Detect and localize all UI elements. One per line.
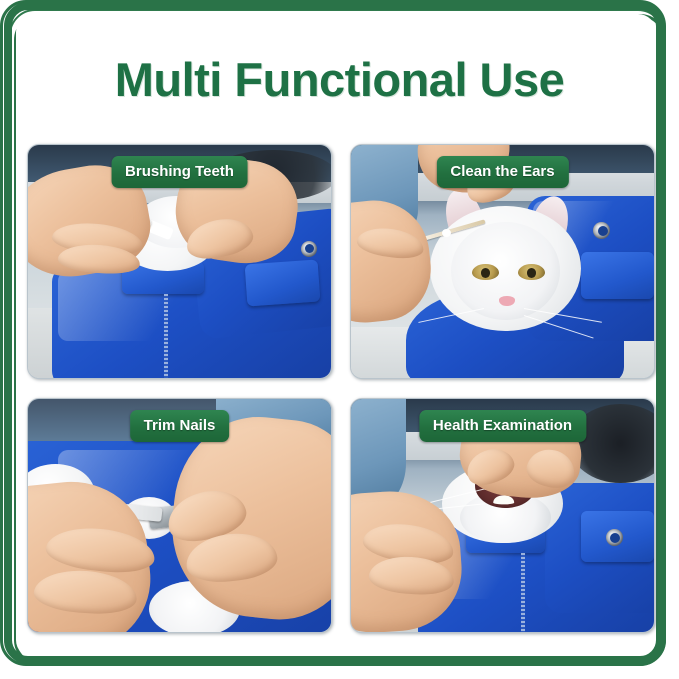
cotton-swab-tip bbox=[442, 229, 451, 237]
panel-badge-health-examination: Health Examination bbox=[419, 410, 586, 442]
bag-zipper bbox=[164, 294, 168, 378]
panel-clean-the-ears[interactable]: Clean the Ears bbox=[350, 144, 655, 379]
panel-badge-clean-the-ears: Clean the Ears bbox=[436, 156, 568, 188]
panel-badge-brushing-teeth: Brushing Teeth bbox=[111, 156, 248, 188]
panel-health-examination[interactable]: Health Examination bbox=[350, 398, 655, 633]
bag-grommet-hole bbox=[598, 226, 608, 236]
bag-pocket-flap bbox=[581, 252, 654, 299]
panel-badge-trim-nails: Trim Nails bbox=[130, 410, 230, 442]
background-scrubs bbox=[351, 399, 406, 506]
bag-pocket-flap bbox=[245, 259, 320, 306]
bag-zipper bbox=[521, 553, 525, 632]
panel-trim-nails[interactable]: Trim Nails bbox=[27, 398, 332, 633]
panel-brushing-teeth[interactable]: Brushing Teeth bbox=[27, 144, 332, 379]
page-title: Multi Functional Use bbox=[0, 52, 679, 108]
cat-nose bbox=[499, 296, 514, 305]
poster: Multi Functional Use bbox=[0, 0, 679, 679]
feature-grid: Brushing Teeth bbox=[27, 144, 655, 634]
cat-pupil-right bbox=[527, 268, 536, 277]
